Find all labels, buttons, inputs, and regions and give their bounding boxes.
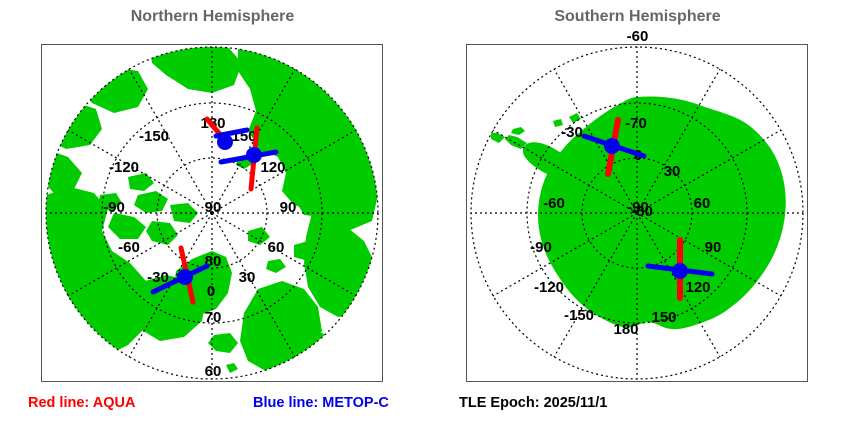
satellite-marker-aqua-north[interactable] bbox=[207, 119, 247, 150]
legend-tle-epoch: TLE Epoch: 2025/11/1 bbox=[459, 395, 607, 411]
legend-bar: Red line: AQUA Blue line: METOP-C TLE Ep… bbox=[0, 390, 850, 425]
northern-panel-title: Northern Hemisphere bbox=[0, 8, 425, 26]
southern-hemisphere-panel: Southern Hemisphere bbox=[425, 0, 850, 390]
southern-panel-title: Southern Hemisphere bbox=[425, 8, 850, 26]
slon-label-m60-outer: -60 bbox=[425, 28, 850, 45]
southern-satellite-markers[interactable] bbox=[466, 44, 806, 380]
northern-satellite-markers[interactable] bbox=[41, 44, 381, 380]
satellite-marker-metop-north-b[interactable] bbox=[153, 248, 207, 302]
legend-red-line-aqua: Red line: AQUA bbox=[28, 395, 135, 411]
northern-hemisphere-panel: Northern Hemisphere bbox=[0, 0, 425, 390]
legend-blue-line-metop: Blue line: METOP-C bbox=[253, 395, 389, 411]
satellite-marker-aqua-south[interactable] bbox=[584, 120, 644, 174]
satellite-marker-metop-south[interactable] bbox=[648, 240, 712, 298]
